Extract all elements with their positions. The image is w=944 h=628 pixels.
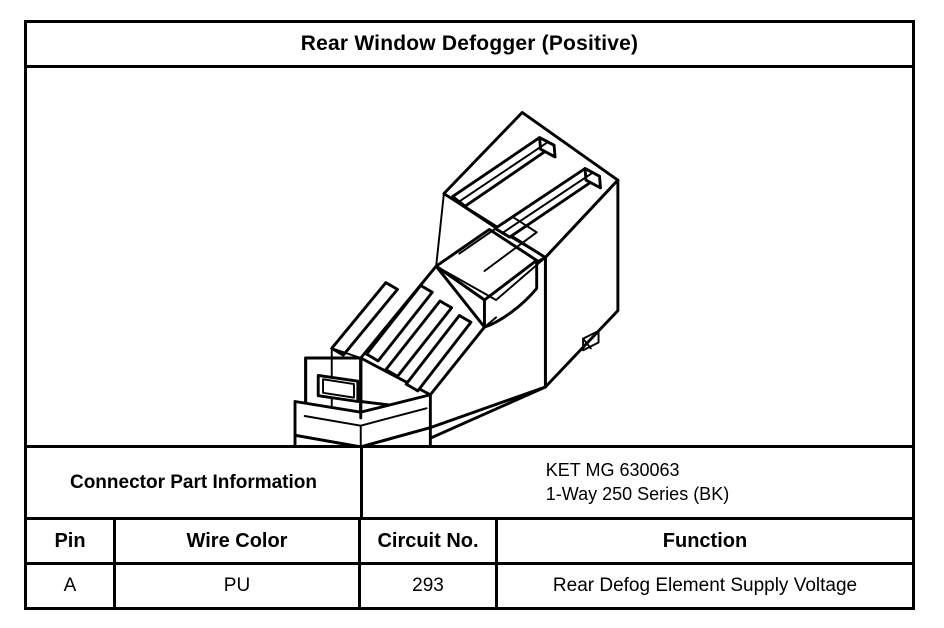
column-header-circuit-no: Circuit No. [361, 520, 498, 562]
connector-illustration-panel [27, 68, 912, 448]
connector-series-description: 1-Way 250 Series (BK) [546, 483, 729, 507]
page-title: Rear Window Defogger (Positive) [301, 32, 638, 56]
column-header-wire-color: Wire Color [116, 520, 361, 562]
cell-pin: A [27, 565, 116, 607]
cell-function: Rear Defog Element Supply Voltage [498, 565, 912, 607]
pin-table-header-row: Pin Wire Color Circuit No. Function [27, 520, 912, 565]
connector-part-information-value: KET MG 630063 1-Way 250 Series (BK) [363, 448, 912, 517]
connector-part-information-label: Connector Part Information [27, 448, 363, 517]
connector-housing-isometric-drawing [27, 68, 912, 445]
table-row: A PU 293 Rear Defog Element Supply Volta… [27, 565, 912, 607]
title-bar: Rear Window Defogger (Positive) [27, 23, 912, 68]
connector-datasheet-frame: Rear Window Defogger (Positive) [24, 20, 915, 610]
cell-wire-color: PU [116, 565, 361, 607]
connector-part-information-row: Connector Part Information KET MG 630063… [27, 448, 912, 520]
column-header-function: Function [498, 520, 912, 562]
connector-part-number: KET MG 630063 [546, 459, 729, 483]
column-header-pin: Pin [27, 520, 116, 562]
cell-circuit-no: 293 [361, 565, 498, 607]
